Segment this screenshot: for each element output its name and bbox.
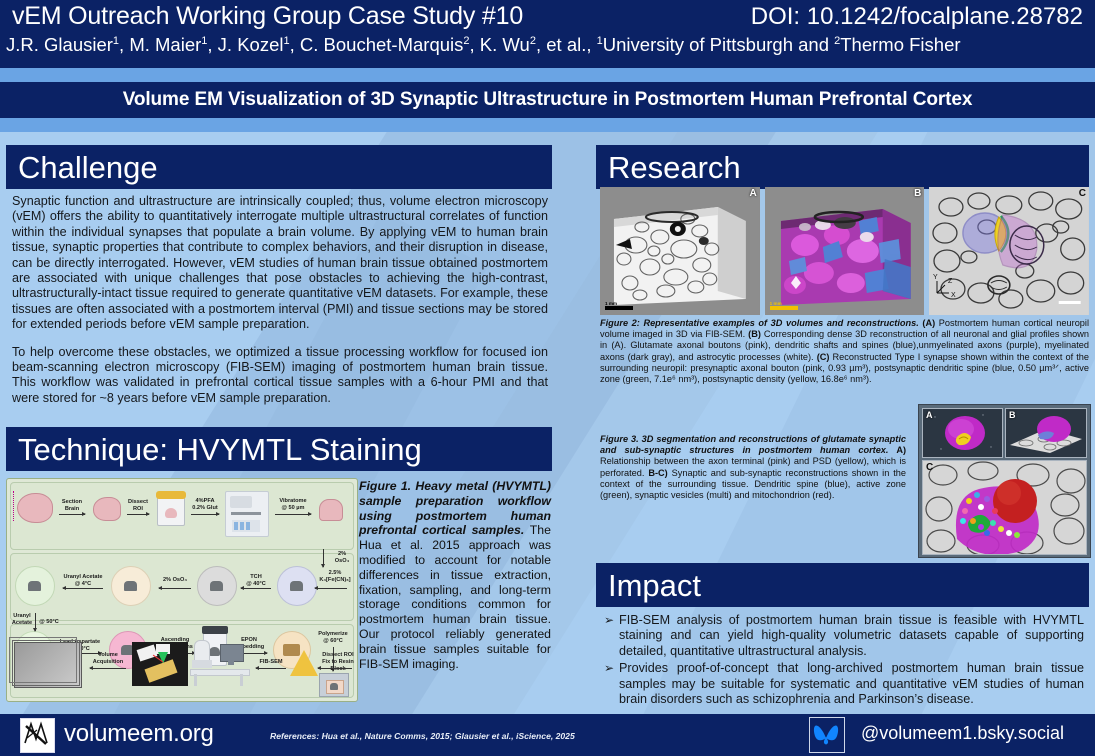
- figure-2-panels: A: [600, 187, 1089, 315]
- figure-2-caption-title: Figure 2: Representative examples of 3D …: [600, 318, 919, 328]
- figure-1-workflow-diagram: SectionBrain DissectROI 4%PFA0.2% Glut V…: [6, 478, 358, 702]
- workflow-step-6-label: 2% OsO₄: [155, 577, 195, 584]
- workflow-step-8-label: 2.5%K₄[Fe(CN)₆]: [311, 570, 358, 584]
- figure-3-panel-c-letter: C: [926, 462, 933, 473]
- bluesky-butterfly-glyph: [810, 718, 842, 750]
- workflow-arrow-1: [59, 514, 85, 515]
- workflow-arrow-12: [90, 668, 126, 669]
- figure-2-panel-a-scalebar: [605, 306, 633, 310]
- figure-1-caption-body: The Hua et al. 2015 approach was modifie…: [359, 523, 551, 670]
- challenge-paragraph-2: To help overcome these obstacles, we opt…: [12, 345, 548, 407]
- workflow-step-3-label: 4%PFA0.2% Glut: [187, 498, 223, 512]
- poster-footer: volumeem.org References: Hua et al., Nat…: [0, 714, 1095, 756]
- author-5: , K. Wu: [470, 34, 530, 55]
- em-volume-render-a: [600, 187, 760, 315]
- oso4-sample-icon: [111, 566, 151, 606]
- section-header-research: Research: [596, 145, 1089, 189]
- figure-3-caption-a-tag: A): [888, 445, 906, 455]
- fixative-jar-icon: [157, 494, 185, 526]
- workflow-arrow-down-2: [35, 613, 36, 631]
- figure-1-caption: Figure 1. Heavy metal (HVYMTL) sample pr…: [359, 479, 551, 671]
- em-synapse-overlay-c: Y Z X: [929, 187, 1089, 315]
- em-reconstruction-render-b: [765, 187, 925, 315]
- workflow-arrow-5: [63, 588, 103, 589]
- figure-2-caption-a-tag: (A): [922, 318, 935, 328]
- resin-cone-icon: [290, 650, 318, 676]
- section-header-challenge: Challenge: [6, 145, 552, 189]
- author-2: , M. Maier: [119, 34, 201, 55]
- bullet-arrow-icon-1: ➢: [604, 613, 619, 659]
- figure-2-panel-c-letter: C: [1079, 188, 1086, 199]
- uranyl-temp-label: @ 50°C: [37, 619, 61, 626]
- case-study-title: vEM Outreach Working Group Case Study #1…: [12, 2, 523, 31]
- figure-2-panel-a-letter: A: [749, 188, 756, 199]
- fib-sem-instrument-icon: [190, 636, 252, 688]
- svg-text:X: X: [951, 292, 956, 299]
- figure-3-panel-a-letter: A: [926, 410, 933, 420]
- brain-whole-icon: [17, 493, 53, 523]
- figure-3-panel-b: B: [1005, 408, 1087, 458]
- references-text: References: Hua et al., Nature Comms, 20…: [270, 731, 575, 741]
- research-heading: Research: [596, 152, 741, 183]
- figure-2-panel-b: B: [765, 187, 925, 315]
- workflow-row-4: VolumeAcquisition FIB-SEM Disse: [10, 624, 354, 696]
- workflow-step-7-label: TCH@ 40°C: [239, 574, 273, 588]
- impact-heading: Impact: [596, 570, 701, 601]
- fib-milling-illustration: [132, 642, 188, 686]
- workflow-row-2: Uranyl Acetate@ 4°C 2% OsO₄ TCH@ 40°C 2.…: [10, 553, 354, 621]
- header-top-row: vEM Outreach Working Group Case Study #1…: [8, 2, 1087, 34]
- figure-2-panel-a: A: [600, 187, 760, 315]
- synapse-subsynaptic-render: [923, 461, 1086, 554]
- poster-title: Volume EM Visualization of 3D Synaptic U…: [123, 89, 973, 111]
- workflow-arrow-3: [191, 514, 219, 515]
- figure-3-caption: Figure 3. 3D segmentation and reconstruc…: [600, 434, 906, 501]
- bluesky-logo-icon[interactable]: [809, 717, 845, 753]
- synapse-bouton-psd-render: [923, 409, 1002, 457]
- poster-title-bar: Volume EM Visualization of 3D Synaptic U…: [0, 82, 1095, 118]
- figure-3-panels: A B: [918, 404, 1091, 558]
- figure-2-caption: Figure 2: Representative examples of 3D …: [600, 318, 1089, 385]
- workflow-arrow-14: [318, 668, 352, 669]
- tissue-slab-icon: [319, 499, 343, 521]
- challenge-body: Synaptic function and ultrastructure are…: [12, 194, 548, 406]
- author-4: , C. Bouchet-Marquis: [290, 34, 464, 55]
- workflow-arrow-8: [315, 588, 347, 589]
- author-list: J.R. Glausier1, M. Maier1, J. Kozel1, C.…: [6, 34, 961, 56]
- uranyl-acetate-sample-icon: [15, 566, 55, 606]
- technique-heading: Technique: HVYMTL Staining: [6, 434, 422, 465]
- impact-bullet-2: ➢ Provides proof-of-concept that long-ar…: [604, 661, 1084, 707]
- author-etal: , et al.,: [536, 34, 597, 55]
- header-divider-strip: [0, 68, 1095, 82]
- workflow-arrow-6: [159, 588, 191, 589]
- affiliation-2: Thermo Fisher: [840, 34, 960, 55]
- workflow-arrow-4: [275, 514, 311, 515]
- bullet-arrow-icon-2: ➢: [604, 661, 619, 707]
- svg-text:Z: Z: [948, 278, 953, 285]
- workflow-step-13-label: VolumeAcquisition: [86, 652, 130, 666]
- title-divider-strip: [0, 118, 1095, 132]
- workflow-arrow-down-1: [323, 549, 324, 567]
- poster-header: vEM Outreach Working Group Case Study #1…: [0, 0, 1095, 68]
- figure-3-panel-b-letter: B: [1009, 410, 1016, 420]
- figure-2-panel-b-letter: B: [914, 188, 921, 199]
- section-header-technique: Technique: HVYMTL Staining: [6, 427, 552, 471]
- workflow-step-14-label: FIB-SEM: [254, 659, 288, 666]
- impact-bullet-1-text: FIB-SEM analysis of postmortem human bra…: [619, 613, 1084, 659]
- figure-3-panel-a: A: [922, 408, 1003, 458]
- section-header-impact: Impact: [596, 563, 1089, 607]
- author-1: J.R. Glausier: [6, 34, 113, 55]
- figure-3-caption-bc-tag: B-C): [648, 468, 667, 478]
- brain-section-lines-icon: [13, 491, 20, 521]
- bluesky-handle[interactable]: @volumeem1.bsky.social: [861, 723, 1064, 744]
- workflow-row-1: SectionBrain DissectROI 4%PFA0.2% Glut V…: [10, 482, 354, 550]
- impact-bullet-list: ➢ FIB-SEM analysis of postmortem human b…: [604, 613, 1084, 709]
- workflow-step-15-label: Dissect ROIFix to ResinBlock: [316, 652, 358, 673]
- figure-2-caption-b-tag: (B): [748, 329, 761, 339]
- synapse-in-tissue-render: [1006, 409, 1086, 457]
- doi-text[interactable]: DOI: 10.1242/focalplane.28782: [751, 3, 1083, 31]
- figure-1-caption-title: Figure 1. Heavy metal (HVYMTL) sample pr…: [359, 479, 551, 537]
- affiliation-1: University of Pittsburgh and: [603, 34, 834, 55]
- figure-3-caption-title: Figure 3. 3D segmentation and reconstruc…: [600, 434, 906, 455]
- workflow-arrow-7: [241, 588, 271, 589]
- svg-text:Y: Y: [933, 274, 938, 281]
- figure-2-caption-c-tag: (C): [817, 352, 830, 362]
- volumeem-logo-icon[interactable]: [20, 718, 55, 753]
- author-3: , J. Kozel: [207, 34, 283, 55]
- website-url[interactable]: volumeem.org: [64, 720, 214, 748]
- vibratome-icon: [225, 491, 269, 537]
- figure-3-panel-c: C: [922, 460, 1087, 555]
- oso4-transition-label: 2%OsO₄: [329, 551, 355, 565]
- figure-2-panel-b-scalebar: [770, 306, 798, 310]
- workflow-arrow-13: [256, 668, 286, 669]
- tch-sample-icon: [197, 566, 237, 606]
- em-volume-stack-icon: [14, 642, 82, 688]
- impact-bullet-2-text: Provides proof-of-concept that long-arch…: [619, 661, 1084, 707]
- impact-bullet-1: ➢ FIB-SEM analysis of postmortem human b…: [604, 613, 1084, 659]
- poster-canvas: vEM Outreach Working Group Case Study #1…: [0, 0, 1095, 756]
- challenge-heading: Challenge: [6, 152, 158, 183]
- workflow-step-4-label: Vibratome@ 50 µm: [271, 498, 315, 512]
- workflow-arrow-2: [127, 514, 149, 515]
- challenge-paragraph-1: Synaptic function and ultrastructure are…: [12, 194, 548, 333]
- uranyl-acetate-transition-label: UranylAcetate: [9, 613, 35, 627]
- figure-2-panel-c: C: [929, 187, 1089, 315]
- brain-slab-icon: [93, 497, 121, 521]
- volumeem-logo-glyph: [21, 719, 52, 750]
